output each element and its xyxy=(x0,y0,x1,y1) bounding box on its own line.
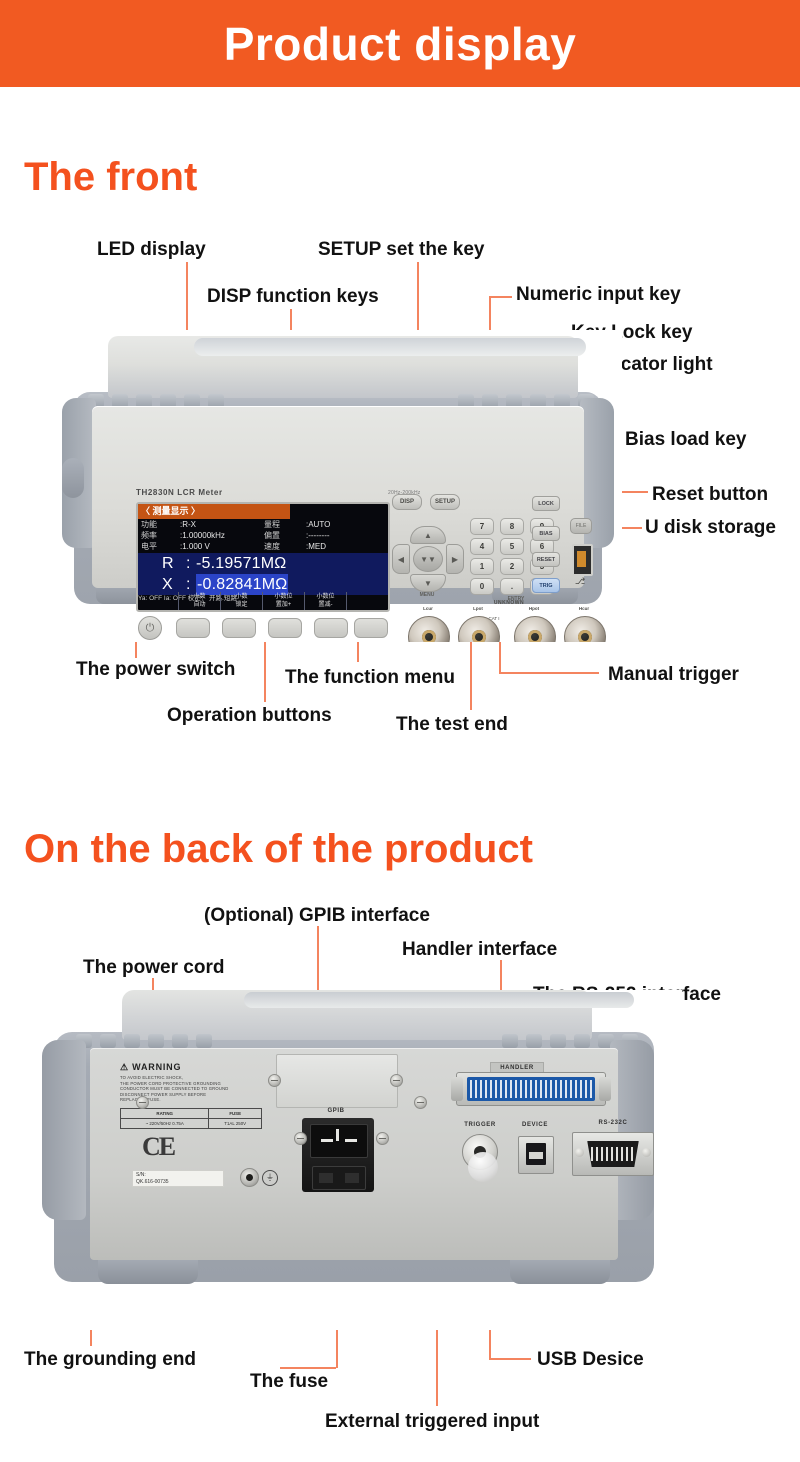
terminal-label-hpot: Hpot xyxy=(514,606,554,611)
setup-key[interactable]: SETUP xyxy=(430,494,460,510)
grounding-terminal[interactable] xyxy=(240,1168,259,1187)
num-key-5[interactable]: 5 xyxy=(500,538,524,555)
callout-disp-function-keys: DISP function keys xyxy=(207,287,379,307)
num-key-7[interactable]: 7 xyxy=(470,518,494,535)
serial-number-label: S/N: QK.616-00735 xyxy=(132,1170,224,1187)
num-key-4[interactable]: 4 xyxy=(470,538,494,555)
back-hood-bar xyxy=(244,992,634,1008)
rating-table: RATING FUSE ~ 220V/50Hz 0.75A T1AL 250V xyxy=(120,1108,262,1129)
callout-led-display: LED display xyxy=(97,240,206,260)
iec-pin-left xyxy=(321,1139,333,1142)
section-heading-front: The front xyxy=(24,155,197,200)
lcd-softkey-0[interactable]: 小数 自动 xyxy=(178,592,220,610)
usb-host-port[interactable] xyxy=(572,544,593,576)
front-panel-photo: TH2830N LCR Meter 20Hz-200kHz 〈 测量显示 〉 功… xyxy=(62,330,622,642)
lcd-param-val2-0: :AUTO xyxy=(306,520,376,530)
fuse-holder[interactable] xyxy=(312,1166,366,1190)
arrow-right-icon[interactable]: ▶ xyxy=(446,544,464,574)
iec-pin-right xyxy=(345,1139,357,1142)
gpib-port-label: GPIB xyxy=(276,1108,396,1114)
bnc-terminal-hpot[interactable] xyxy=(514,616,556,642)
num-key-8[interactable]: 8 xyxy=(500,518,524,535)
leader-usb-h xyxy=(489,1358,531,1360)
rs232-port-label: RS-232C xyxy=(582,1120,644,1126)
front-face-plate: TH2830N LCR Meter 20Hz-200kHz 〈 测量显示 〉 功… xyxy=(92,406,584,588)
test-terminals-block: UNKNOWN CAT I ⚠ 5 42VDC Max Lcur Lpot Hp… xyxy=(404,602,610,642)
indicator-light-icon: FILE xyxy=(570,518,592,534)
terminal-label-lcur: Lcur xyxy=(408,606,448,611)
operation-button-4[interactable] xyxy=(314,618,348,638)
lcd-measure-row-r: R : -5.19571MΩ xyxy=(138,553,388,574)
handler-connector[interactable] xyxy=(456,1072,606,1106)
callout-numeric-input-key: Numeric input key xyxy=(516,285,681,305)
lcd-softkey-0-line2: 自动 xyxy=(179,601,220,609)
ground-icon: ⏚ xyxy=(262,1170,278,1186)
rating-table-row: ~ 220V/50Hz 0.75A T1AL 250V xyxy=(121,1119,261,1128)
handler-pins xyxy=(470,1080,592,1098)
trigger-connector-cap xyxy=(468,1152,498,1182)
terminal-label-lpot: Lpot xyxy=(458,606,498,611)
arrow-pad: ▲ ▼ ◀ ▶ ▼▼ xyxy=(392,526,462,590)
side-knob xyxy=(62,458,84,498)
leader-numeric-keypad-h xyxy=(489,296,512,298)
power-inlet-connector[interactable] xyxy=(302,1118,374,1192)
callout-gpib-interface: (Optional) GPIB interface xyxy=(204,906,430,926)
power-icon[interactable]: ⏻ xyxy=(138,616,162,640)
hood-top-bar xyxy=(194,338,586,356)
arrow-center-key[interactable]: ▼▼ xyxy=(413,546,443,572)
section-heading-back: On the back of the product xyxy=(24,827,533,872)
db9-screw-right xyxy=(642,1148,651,1157)
screw-face-mid xyxy=(414,1096,427,1109)
rating-table-header: RATING FUSE xyxy=(121,1109,261,1119)
num-key-2[interactable]: 2 xyxy=(500,558,524,575)
callout-test-end: The test end xyxy=(396,715,508,735)
gpib-blank-plate xyxy=(276,1054,398,1108)
usb-device-port[interactable] xyxy=(518,1136,554,1174)
back-chassis-hood xyxy=(122,990,592,1040)
lcd-param-val-2: :1.000 V xyxy=(180,542,260,552)
screw-gpib-left xyxy=(268,1074,281,1087)
lcd-softkey-3-line2: 置减- xyxy=(305,601,346,609)
callout-operation-buttons: Operation buttons xyxy=(167,706,332,726)
lcd-param-key2-0: 量程 xyxy=(264,520,300,530)
serial-value: QK.616-00735 xyxy=(136,1179,220,1186)
lock-key[interactable]: LOCK xyxy=(532,496,560,511)
warning-title: ⚠ WARNING xyxy=(120,1062,272,1073)
callout-fuse: The fuse xyxy=(250,1372,328,1392)
screw-face-left xyxy=(136,1096,149,1109)
lcd-param-val-0: :R-X xyxy=(180,520,260,530)
callout-power-cord: The power cord xyxy=(83,958,224,978)
screw-iec-left xyxy=(294,1132,307,1145)
chassis-hood xyxy=(108,336,578,398)
iec-pin-ground xyxy=(336,1129,339,1141)
lcd-softkey-row: 小数 自动 小数 锁定 小数位 置加+ 小数位 置减- xyxy=(138,592,388,610)
rs232-connector[interactable] xyxy=(572,1132,654,1176)
reset-key[interactable]: RESET xyxy=(532,552,560,567)
leader-manual-trigger-h xyxy=(499,672,599,674)
handler-socket xyxy=(467,1077,595,1101)
operation-button-3[interactable] xyxy=(268,618,302,638)
lcd-param-key2-1: 偏置 xyxy=(264,531,300,541)
lcd-param-val2-2: :MED xyxy=(306,542,376,552)
callout-handler-interface: Handler interface xyxy=(402,940,557,960)
lcd-softkey-0-line1: 小数 xyxy=(179,593,220,601)
callout-setup-key: SETUP set the key xyxy=(318,240,485,260)
db9-screw-left xyxy=(575,1148,584,1157)
device-port-label: DEVICE xyxy=(508,1122,562,1128)
back-handle-left xyxy=(42,1040,86,1220)
page-title: Product display xyxy=(0,0,800,87)
bnc-terminal-hcur[interactable] xyxy=(564,616,606,642)
lcd-softkey-2[interactable]: 小数位 置加+ xyxy=(262,592,304,610)
model-label: TH2830N LCR Meter xyxy=(136,488,386,501)
bnc-terminal-lcur[interactable] xyxy=(408,616,450,642)
disp-key[interactable]: DISP xyxy=(392,494,422,510)
leader-fuse-h xyxy=(280,1367,336,1369)
lcd-param-val2-1: :-------- xyxy=(306,531,376,541)
lcd-softkey-2-line2: 置加+ xyxy=(263,601,304,609)
trigger-port-label: TRIGGER xyxy=(450,1122,510,1128)
operation-button-1[interactable] xyxy=(176,618,210,638)
measure-colon-r: : xyxy=(186,553,194,574)
power-inlet-socket xyxy=(310,1124,368,1158)
bias-key[interactable]: BIAS xyxy=(532,526,560,541)
usb-icon: ⎇ xyxy=(570,576,590,586)
back-foot-left xyxy=(98,1260,198,1284)
rating-header-fuse: FUSE xyxy=(209,1109,261,1118)
arrow-down-icon[interactable]: ▼ xyxy=(410,574,446,592)
measure-label-r: R xyxy=(162,553,184,574)
screw-iec-right xyxy=(376,1132,389,1145)
lcd-softkey-1-line1: 小数 xyxy=(221,593,262,601)
callout-grounding-end: The grounding end xyxy=(24,1350,196,1370)
rating-value-fuse: T1AL 250V xyxy=(209,1119,261,1128)
handler-latch-right xyxy=(599,1077,611,1101)
callout-manual-trigger: Manual trigger xyxy=(608,665,739,685)
num-key-dot[interactable]: . xyxy=(500,578,524,595)
lcd-softkey-3-line1: 小数位 xyxy=(305,593,346,601)
lcd-param-key-0: 功能 xyxy=(141,520,177,530)
lcd-softkey-2-line1: 小数位 xyxy=(263,593,304,601)
callout-function-menu: The function menu xyxy=(285,668,455,688)
lcd-display[interactable]: 〈 测量显示 〉 功能 :R-X 量程 :AUTO 频率 :1.00000kHz… xyxy=(136,502,390,612)
measure-value-r: -5.19571MΩ xyxy=(196,553,286,574)
callout-bias-load-key: Bias load key xyxy=(625,430,746,450)
db9-pins xyxy=(591,1147,635,1161)
num-key-0[interactable]: 0 xyxy=(470,578,494,595)
header-banner: Product display xyxy=(0,0,800,87)
lcd-param-val-1: :1.00000kHz xyxy=(180,531,260,541)
num-key-1[interactable]: 1 xyxy=(470,558,494,575)
terminal-label-hcur: Hcur xyxy=(564,606,604,611)
lcd-softkey-3[interactable]: 小数位 置减- xyxy=(304,592,346,610)
lcd-param-key-1: 频率 xyxy=(141,531,177,541)
callout-power-switch: The power switch xyxy=(76,660,235,680)
callout-external-trigger: External triggered input xyxy=(325,1412,539,1432)
lcd-parameter-rows: 功能 :R-X 量程 :AUTO 频率 :1.00000kHz 偏置 :----… xyxy=(138,520,388,552)
serial-prefix: S/N: xyxy=(136,1172,220,1179)
lcd-softkey-1-line2: 锁定 xyxy=(221,601,262,609)
screw-gpib-right xyxy=(390,1074,403,1087)
callout-reset-button: Reset button xyxy=(652,485,768,505)
usb-device-socket xyxy=(526,1143,546,1165)
lcd-title-bar: 〈 测量显示 〉 xyxy=(138,504,290,519)
callout-u-disk-storage: U disk storage xyxy=(645,518,776,538)
arrow-up-icon[interactable]: ▲ xyxy=(410,526,446,544)
back-foot-right xyxy=(510,1260,610,1284)
arrow-left-icon[interactable]: ◀ xyxy=(392,544,410,574)
operation-button-2[interactable] xyxy=(222,618,256,638)
lcd-param-key2-2: 速度 xyxy=(264,542,300,552)
lcd-softkey-4[interactable] xyxy=(346,592,388,610)
db9-socket xyxy=(585,1141,641,1167)
lcd-param-key-2: 电平 xyxy=(141,542,177,552)
back-face-plate: ⚠ WARNING TO AVOID ELECTRIC SHOCK, THE P… xyxy=(90,1048,618,1260)
back-panel-photo: ⚠ WARNING TO AVOID ELECTRIC SHOCK, THE P… xyxy=(42,990,682,1330)
callout-usb-desice: USB Desice xyxy=(537,1350,644,1370)
rating-header-rating: RATING xyxy=(121,1109,209,1118)
trig-key[interactable]: TRIG xyxy=(532,578,560,593)
ce-mark-icon: CE xyxy=(142,1132,174,1162)
rating-value-rating: ~ 220V/50Hz 0.75A xyxy=(121,1119,209,1128)
handler-latch-left xyxy=(451,1077,463,1101)
lcd-softkey-1[interactable]: 小数 锁定 xyxy=(220,592,262,610)
menu-caption: MENU xyxy=(392,592,462,598)
lcd-measurement-area: R : -5.19571MΩ X : -0.82841MΩ xyxy=(138,553,388,595)
operation-button-5[interactable] xyxy=(354,618,388,638)
